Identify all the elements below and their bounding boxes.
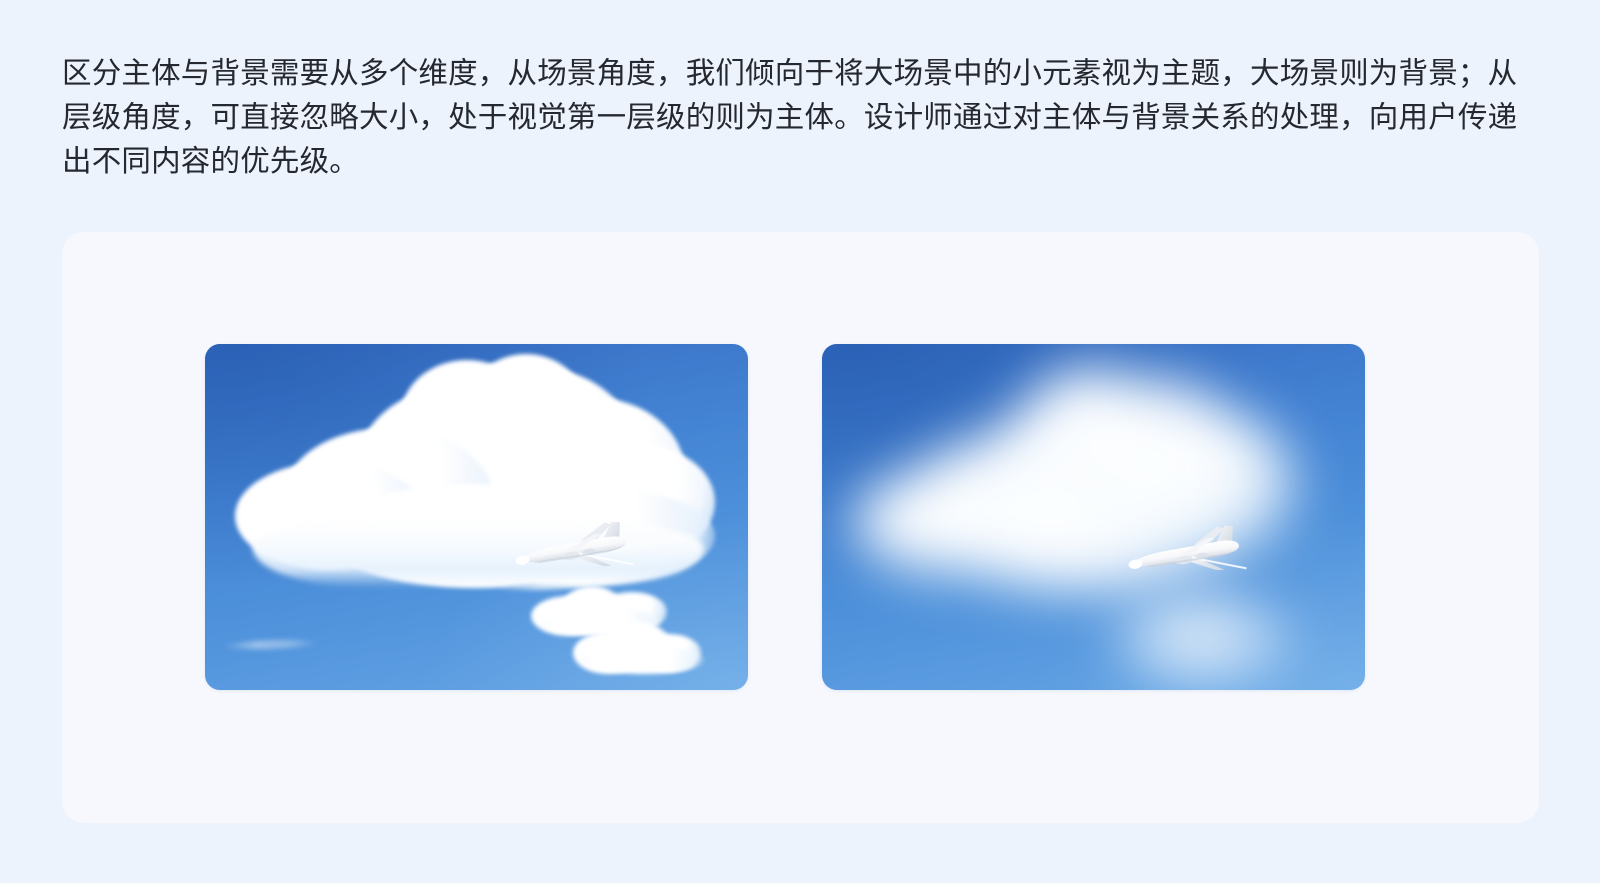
blurred-small-cloud (1112, 596, 1302, 684)
cloud-wisp-icon (223, 638, 319, 650)
image-comparison-row (205, 344, 1365, 692)
cloud-layer-blurred (822, 344, 1365, 690)
airplane-icon (1118, 526, 1250, 588)
sharp-sky-image-card[interactable] (205, 344, 748, 690)
cloud-layer-sharp (205, 344, 748, 690)
page-root: 区分主体与背景需要从多个维度，从场景角度，我们倾向于将大场景中的小元素视为主题，… (0, 0, 1600, 883)
description-paragraph: 区分主体与背景需要从多个维度，从场景角度，我们倾向于将大场景中的小元素视为主题，… (62, 52, 1520, 184)
airplane-icon (505, 522, 637, 584)
blurred-sky-image-card[interactable] (822, 344, 1365, 690)
description-block: 区分主体与背景需要从多个维度，从场景角度，我们倾向于将大场景中的小元素视为主题，… (62, 52, 1520, 184)
illustration-panel (62, 232, 1539, 823)
